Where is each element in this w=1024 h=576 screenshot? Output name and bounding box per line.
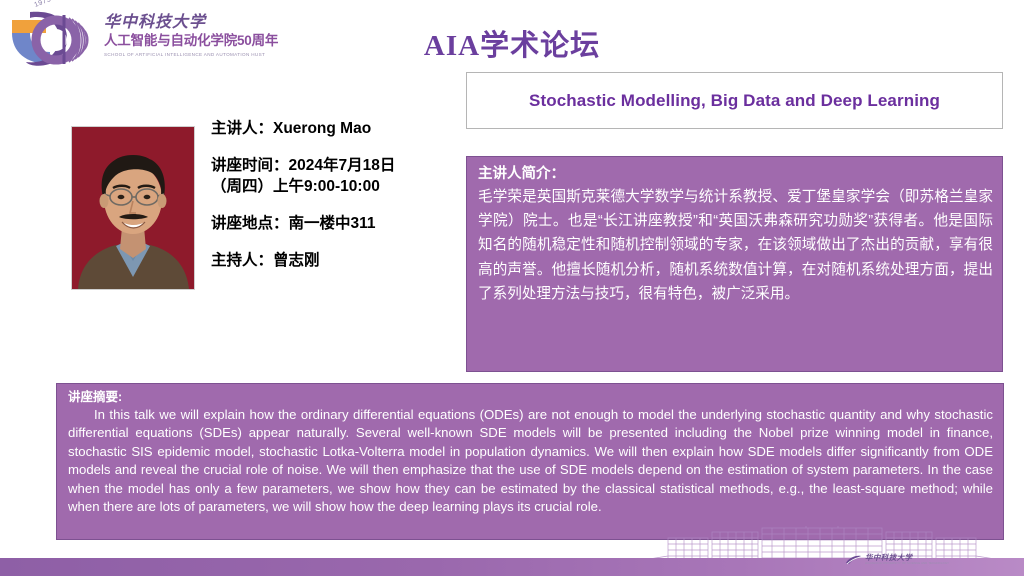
lecture-host-line: 主持人：曾志刚: [211, 250, 461, 271]
speaker-bio-text: 毛学荣是英国斯克莱德大学数学与统计系教授、爱丁堡皇家学会（即苏格兰皇家学院）院士…: [478, 185, 993, 306]
speaker-bio-panel: 主讲人简介： 毛学荣是英国斯克莱德大学数学与统计系教授、爱丁堡皇家学会（即苏格兰…: [466, 156, 1003, 372]
lecture-title: Stochastic Modelling, Big Data and Deep …: [529, 91, 940, 111]
lecture-time-line-1: 讲座时间：2024年7月18日: [211, 157, 395, 174]
hust-emblem-icon: [845, 554, 862, 566]
page-title: AIA学术论坛: [0, 22, 1024, 64]
footer-logo-cn: 华中科技大学: [865, 554, 949, 562]
lecture-time-line: 讲座时间：2024年7月18日 （周四）上午9:00-10:00: [211, 155, 461, 197]
abstract-panel: 讲座摘要: In this talk we will explain how t…: [56, 383, 1004, 540]
lecture-time-line-2: （周四）上午9:00-10:00: [211, 176, 461, 197]
speaker-name-line: 主讲人：Xuerong Mao: [211, 118, 461, 139]
speaker-photo: [71, 126, 195, 290]
speaker-bio-heading: 主讲人简介：: [478, 164, 993, 184]
footer-hust-logo: 华中科技大学 HUAZHONG UNIVERSITY OF SCIENCE AN…: [845, 550, 965, 570]
abstract-heading: 讲座摘要:: [68, 389, 993, 406]
abstract-text: In this talk we will explain how the ord…: [68, 406, 993, 516]
speaker-details: 主讲人：Xuerong Mao 讲座时间：2024年7月18日 （周四）上午9:…: [211, 118, 461, 271]
lecture-title-box: Stochastic Modelling, Big Data and Deep …: [466, 72, 1003, 129]
page-header: 1973-2023 华中科技大学 人工智能与自动化学院50周年 SCHOOL O…: [0, 0, 1024, 72]
footer-logo-en: HUAZHONG UNIVERSITY OF SCIENCE AND TECHN…: [865, 562, 949, 566]
lecture-venue-line: 讲座地点：南一楼中311: [211, 213, 461, 234]
